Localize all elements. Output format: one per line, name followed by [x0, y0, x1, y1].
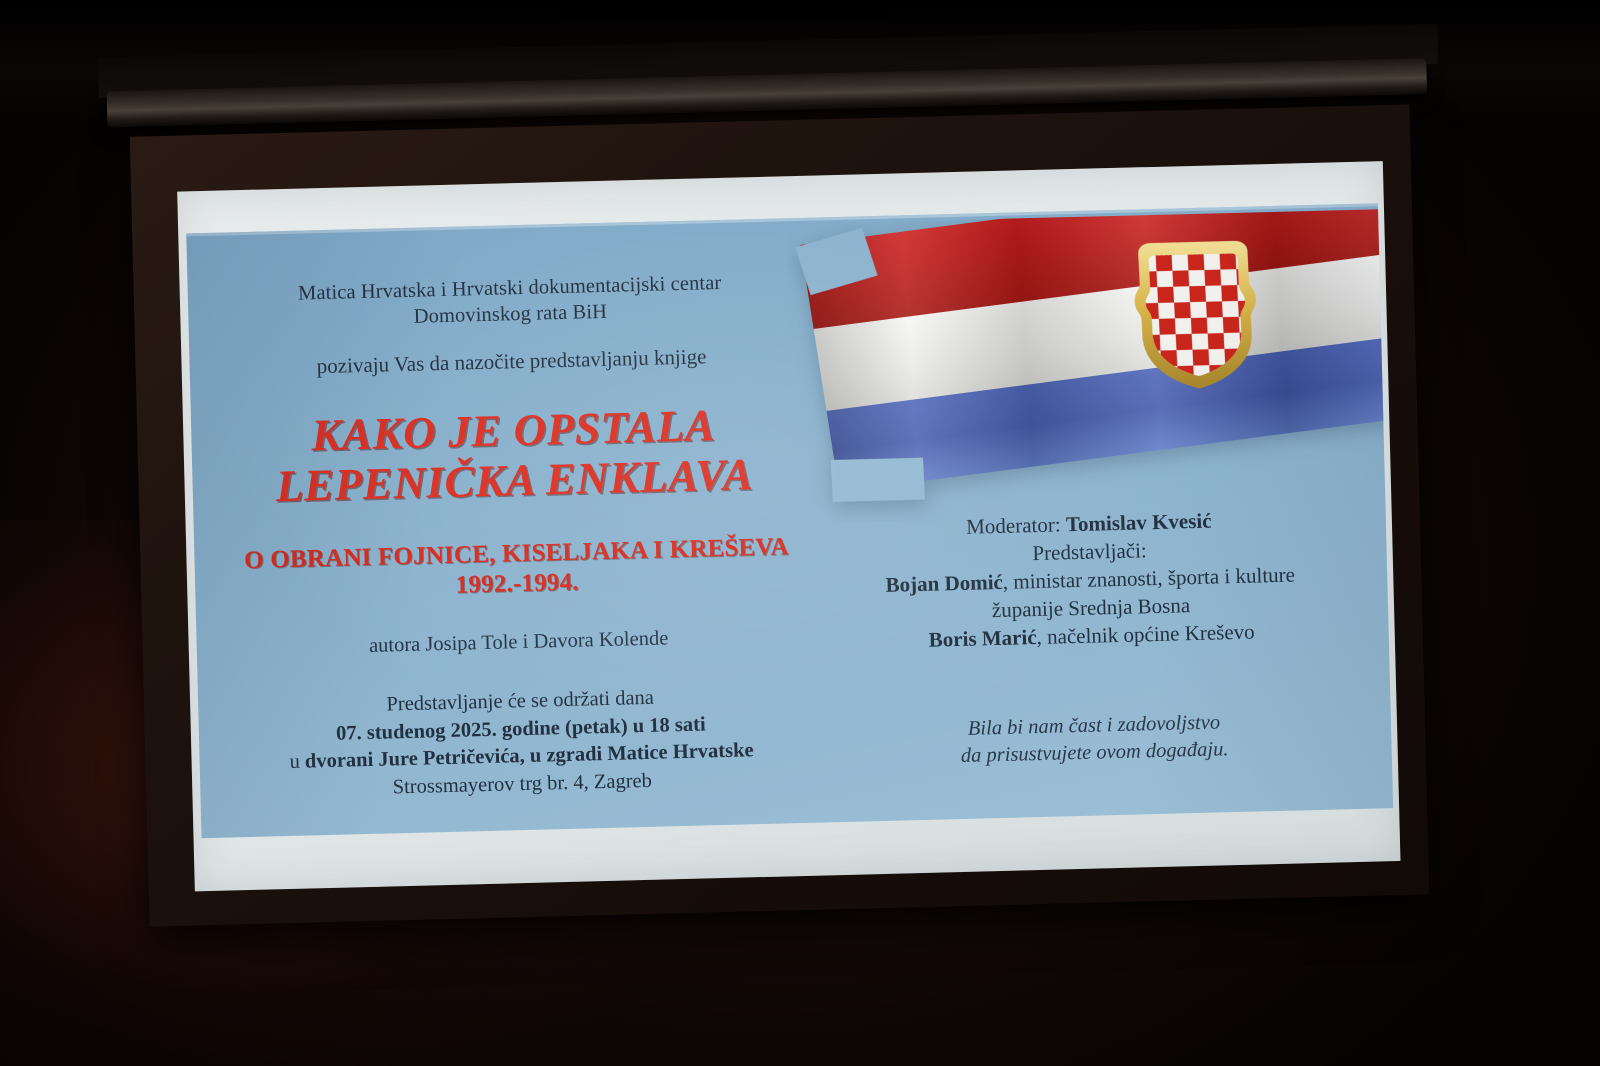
host-organizations: Matica Hrvatska i Hrvatski dokumentacijs… [229, 268, 790, 335]
presenter-1-name: Bojan Domić [885, 570, 1003, 597]
presenter-2-name: Boris Marić [928, 625, 1036, 652]
flag-of-herzeg-bosnia-icon [800, 209, 1393, 492]
checkerboard-shield-icon [1128, 237, 1264, 392]
dark-room-background: Matica Hrvatska i Hrvatski dokumentacijs… [0, 0, 1600, 1066]
presentation-slide: Matica Hrvatska i Hrvatski dokumentacijs… [186, 203, 1393, 838]
moderator-label: Moderator: [966, 512, 1061, 538]
moderator-name: Tomislav Kvesić [1066, 509, 1212, 537]
book-authors: autora Josipa Tole i Davora Kolende [238, 625, 798, 662]
closing-note: Bila bi nam čast i zadovoljstvo da prisu… [819, 705, 1370, 773]
event-line-3-prefix: u [289, 751, 305, 773]
projector-screen-assembly: Matica Hrvatska i Hrvatski dokumentacijs… [0, 0, 1600, 1066]
presenter-1-role: , ministar znanosti, športa i kulture [1003, 562, 1296, 593]
book-title: KAKO JE OPSTALA LEPENIČKA ENKLAVA [233, 400, 795, 513]
flag-hoist-notch-bottom [831, 458, 925, 502]
projection-screen-fabric: Matica Hrvatska i Hrvatski dokumentacijs… [177, 161, 1400, 891]
slide-left-column: Matica Hrvatska i Hrvatski dokumentacijs… [229, 268, 802, 805]
presenter-2-role: , načelnik općine Kreševo [1036, 619, 1255, 649]
participants-block: Moderator: Tomislav Kvesić Predstavljači… [814, 504, 1367, 657]
slide-right-column: Moderator: Tomislav Kvesić Predstavljači… [814, 504, 1370, 774]
projection-screen-frame: Matica Hrvatska i Hrvatski dokumentacijs… [130, 104, 1430, 926]
flag-region [786, 209, 1393, 524]
event-details: Predstavljanje će se održati dana 07. st… [240, 682, 803, 806]
book-subtitle: O OBRANI FOJNICE, KISELJAKA I KREŠEVA 19… [236, 533, 797, 607]
invitation-line: pozivaju Vas da nazočite predstavljanju … [231, 343, 791, 382]
